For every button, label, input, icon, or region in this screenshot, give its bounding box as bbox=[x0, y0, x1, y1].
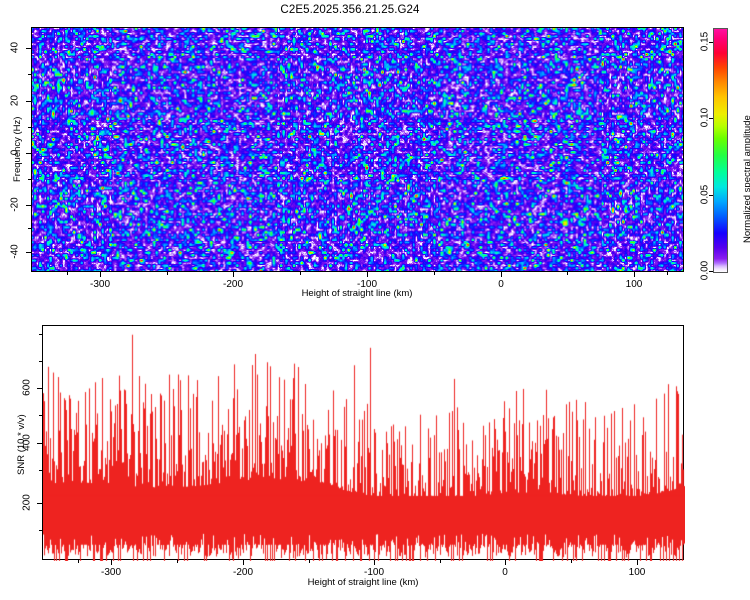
snr-xtick bbox=[505, 560, 506, 565]
spectrogram-xtick bbox=[100, 272, 101, 277]
spectrogram-ytick bbox=[26, 252, 31, 253]
snr-xtick-minor bbox=[177, 560, 178, 563]
spectrogram-panel bbox=[31, 27, 684, 272]
snr-ytick-minor bbox=[39, 334, 42, 335]
spectrogram-xtick-minor bbox=[667, 272, 668, 275]
snr-xtick bbox=[243, 560, 244, 565]
snr-xtick bbox=[111, 560, 112, 565]
snr-xtick-minor bbox=[571, 560, 572, 563]
snr-xtick-minor bbox=[78, 560, 79, 563]
spectrogram-xtick-minor bbox=[434, 272, 435, 275]
spectrogram-xtick bbox=[501, 272, 502, 277]
snr-xticklabel: -200 bbox=[233, 567, 253, 578]
snr-ytick bbox=[37, 388, 42, 389]
snr-xaxis-title: Height of straight line (km) bbox=[308, 577, 419, 588]
snr-yaxis-title: SNR (10 * v/v) bbox=[16, 414, 27, 475]
spectrogram-yticklabel: -40 bbox=[10, 243, 21, 261]
snr-ytick-minor bbox=[39, 415, 42, 416]
spectrogram-image bbox=[32, 28, 683, 271]
spectrogram-yticklabel: 40 bbox=[10, 41, 21, 55]
snr-ytick-minor bbox=[39, 530, 42, 531]
spectrogram-xtick-minor bbox=[567, 272, 568, 275]
spectrogram-xtick bbox=[233, 272, 234, 277]
snr-ytick-minor bbox=[39, 361, 42, 362]
colorbar-ticklabel: 0.10 bbox=[700, 103, 711, 133]
snr-ytick bbox=[37, 443, 42, 444]
snr-yticklabel: 600 bbox=[22, 377, 33, 399]
spectrogram-xaxis-title: Height of straight line (km) bbox=[302, 288, 413, 299]
spectrogram-xtick bbox=[367, 272, 368, 277]
spectrogram-xtick-minor bbox=[167, 272, 168, 275]
snr-xtick-minor bbox=[440, 560, 441, 563]
snr-xtick bbox=[637, 560, 638, 565]
snr-xticklabel: 0 bbox=[502, 567, 508, 578]
spectrogram-ytick bbox=[26, 101, 31, 102]
colorbar-ticklabel: 0.15 bbox=[700, 27, 711, 57]
spectrogram-xtick bbox=[634, 272, 635, 277]
snr-ytick-minor bbox=[39, 470, 42, 471]
spectrogram-yaxis-title: Frequency (Hz) bbox=[12, 117, 23, 182]
colorbar-axis-title: Normalized spectral amplitude bbox=[742, 115, 750, 243]
spectrogram-ytick-minor bbox=[28, 228, 31, 229]
spectrogram-ytick bbox=[26, 48, 31, 49]
spectrogram-ytick-minor bbox=[28, 127, 31, 128]
spectrogram-xtick-minor bbox=[300, 272, 301, 275]
snr-yticklabel: 200 bbox=[22, 492, 33, 514]
spectrogram-xticklabel: 0 bbox=[498, 279, 504, 290]
snr-ytick bbox=[37, 503, 42, 504]
snr-xticklabel: -300 bbox=[101, 567, 121, 578]
snr-panel bbox=[42, 325, 684, 560]
spectrogram-ytick bbox=[26, 205, 31, 206]
snr-xticklabel: 100 bbox=[629, 567, 646, 578]
spectrogram-ytick bbox=[26, 153, 31, 154]
colorbar-ticklabel: 0.00 bbox=[700, 256, 711, 286]
spectrogram-ytick-minor bbox=[28, 74, 31, 75]
spectrogram-yticklabel: -20 bbox=[10, 196, 21, 214]
spectrogram-xtick-minor bbox=[67, 272, 68, 275]
spectrogram-ytick-minor bbox=[28, 179, 31, 180]
spectrogram-xticklabel: -300 bbox=[90, 279, 110, 290]
colorbar bbox=[713, 28, 728, 273]
snr-xtick-minor bbox=[309, 560, 310, 563]
page-title: C2E5.2025.356.21.25.G24 bbox=[0, 4, 700, 16]
colorbar-ticklabel: 0.05 bbox=[700, 180, 711, 210]
snr-xtick bbox=[374, 560, 375, 565]
spectrogram-xticklabel: 100 bbox=[626, 279, 643, 290]
spectrogram-xticklabel: -200 bbox=[223, 279, 243, 290]
snr-trace bbox=[43, 326, 685, 561]
spectrogram-yticklabel: 20 bbox=[10, 94, 21, 108]
